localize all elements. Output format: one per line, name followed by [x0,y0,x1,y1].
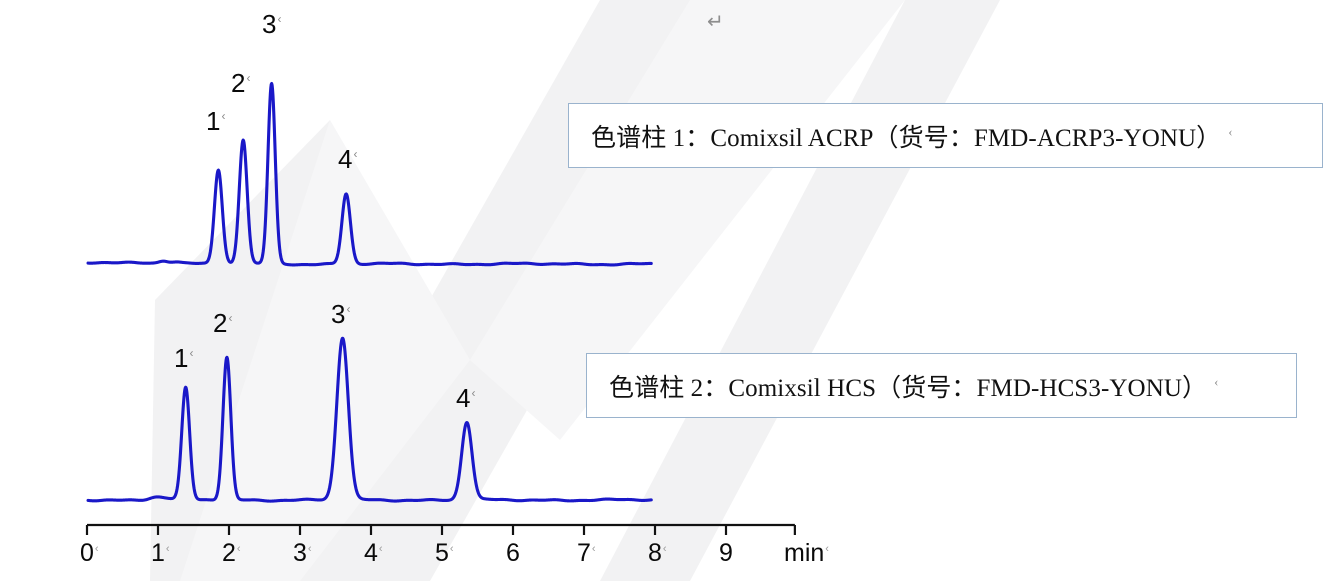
axis-tick-label-8: 8‹ [648,541,667,566]
formatting-mark: ‹ [166,543,170,555]
formatting-mark: ‹ [346,302,350,316]
formatting-mark: ‹ [277,12,281,26]
formatting-mark: ‹ [825,543,829,555]
peak-label-top-2: 2‹ [231,70,250,96]
peak-label-bottom-4: 4‹ [456,385,475,411]
formatting-mark: ‹ [353,147,357,161]
axis-tick-label-0: 0‹ [80,541,99,566]
formatting-mark: ‹ [663,543,667,555]
formatting-mark: ‹ [1228,124,1232,139]
formatting-mark: ‹ [1214,374,1218,389]
peak-label-bottom-3: 3‹ [331,301,350,327]
axis-unit-label: min‹ [784,541,829,566]
axis-tick-label-4: 4‹ [364,541,383,566]
chromatogram-figure: 1‹ 2‹ 3‹ 4‹ 1‹ 2‹ 3‹ 4‹ 0‹ 1‹ 2‹ 3‹ 4‹ 5… [0,0,1343,581]
return-mark-icon: ↵ [707,12,724,32]
axis-tick-label-2: 2‹ [222,541,241,566]
formatting-mark: ‹ [450,543,454,555]
formatting-mark: ‹ [308,543,312,555]
peak-label-top-3: 3‹ [262,11,281,37]
caption-text-column-1: 色谱柱 1：Comixsil ACRP（货号：FMD-ACRP3-YONU）‹ [569,118,1233,154]
trace-column-2 [88,338,651,501]
trace-column-1 [88,84,651,265]
caption-text-column-2: 色谱柱 2：Comixsil HCS（货号：FMD-HCS3-YONU）‹ [587,368,1219,404]
x-axis [87,525,795,535]
peak-label-bottom-1: 1‹ [174,345,193,371]
formatting-mark: ‹ [592,543,596,555]
formatting-mark: ‹ [221,109,225,123]
axis-tick-label-5: 5‹ [435,541,454,566]
axis-tick-label-9: 9 [719,541,733,566]
caption-box-column-1[interactable]: 色谱柱 1：Comixsil ACRP（货号：FMD-ACRP3-YONU）‹ [568,103,1323,168]
formatting-mark: ‹ [379,543,383,555]
peak-label-bottom-2: 2‹ [213,310,232,336]
chromatogram-plot [0,0,1343,581]
peak-label-top-4: 4‹ [338,146,357,172]
peak-label-top-1: 1‹ [206,108,225,134]
formatting-mark: ‹ [189,346,193,360]
axis-tick-label-3: 3‹ [293,541,312,566]
caption-box-column-2[interactable]: 色谱柱 2：Comixsil HCS（货号：FMD-HCS3-YONU）‹ [586,353,1297,418]
formatting-mark: ‹ [237,543,241,555]
formatting-mark: ‹ [95,543,99,555]
axis-tick-label-6: 6 [506,541,520,566]
formatting-mark: ‹ [246,71,250,85]
formatting-mark: ‹ [471,386,475,400]
axis-tick-label-1: 1‹ [151,541,170,566]
formatting-mark: ‹ [228,311,232,325]
axis-tick-label-7: 7‹ [577,541,596,566]
